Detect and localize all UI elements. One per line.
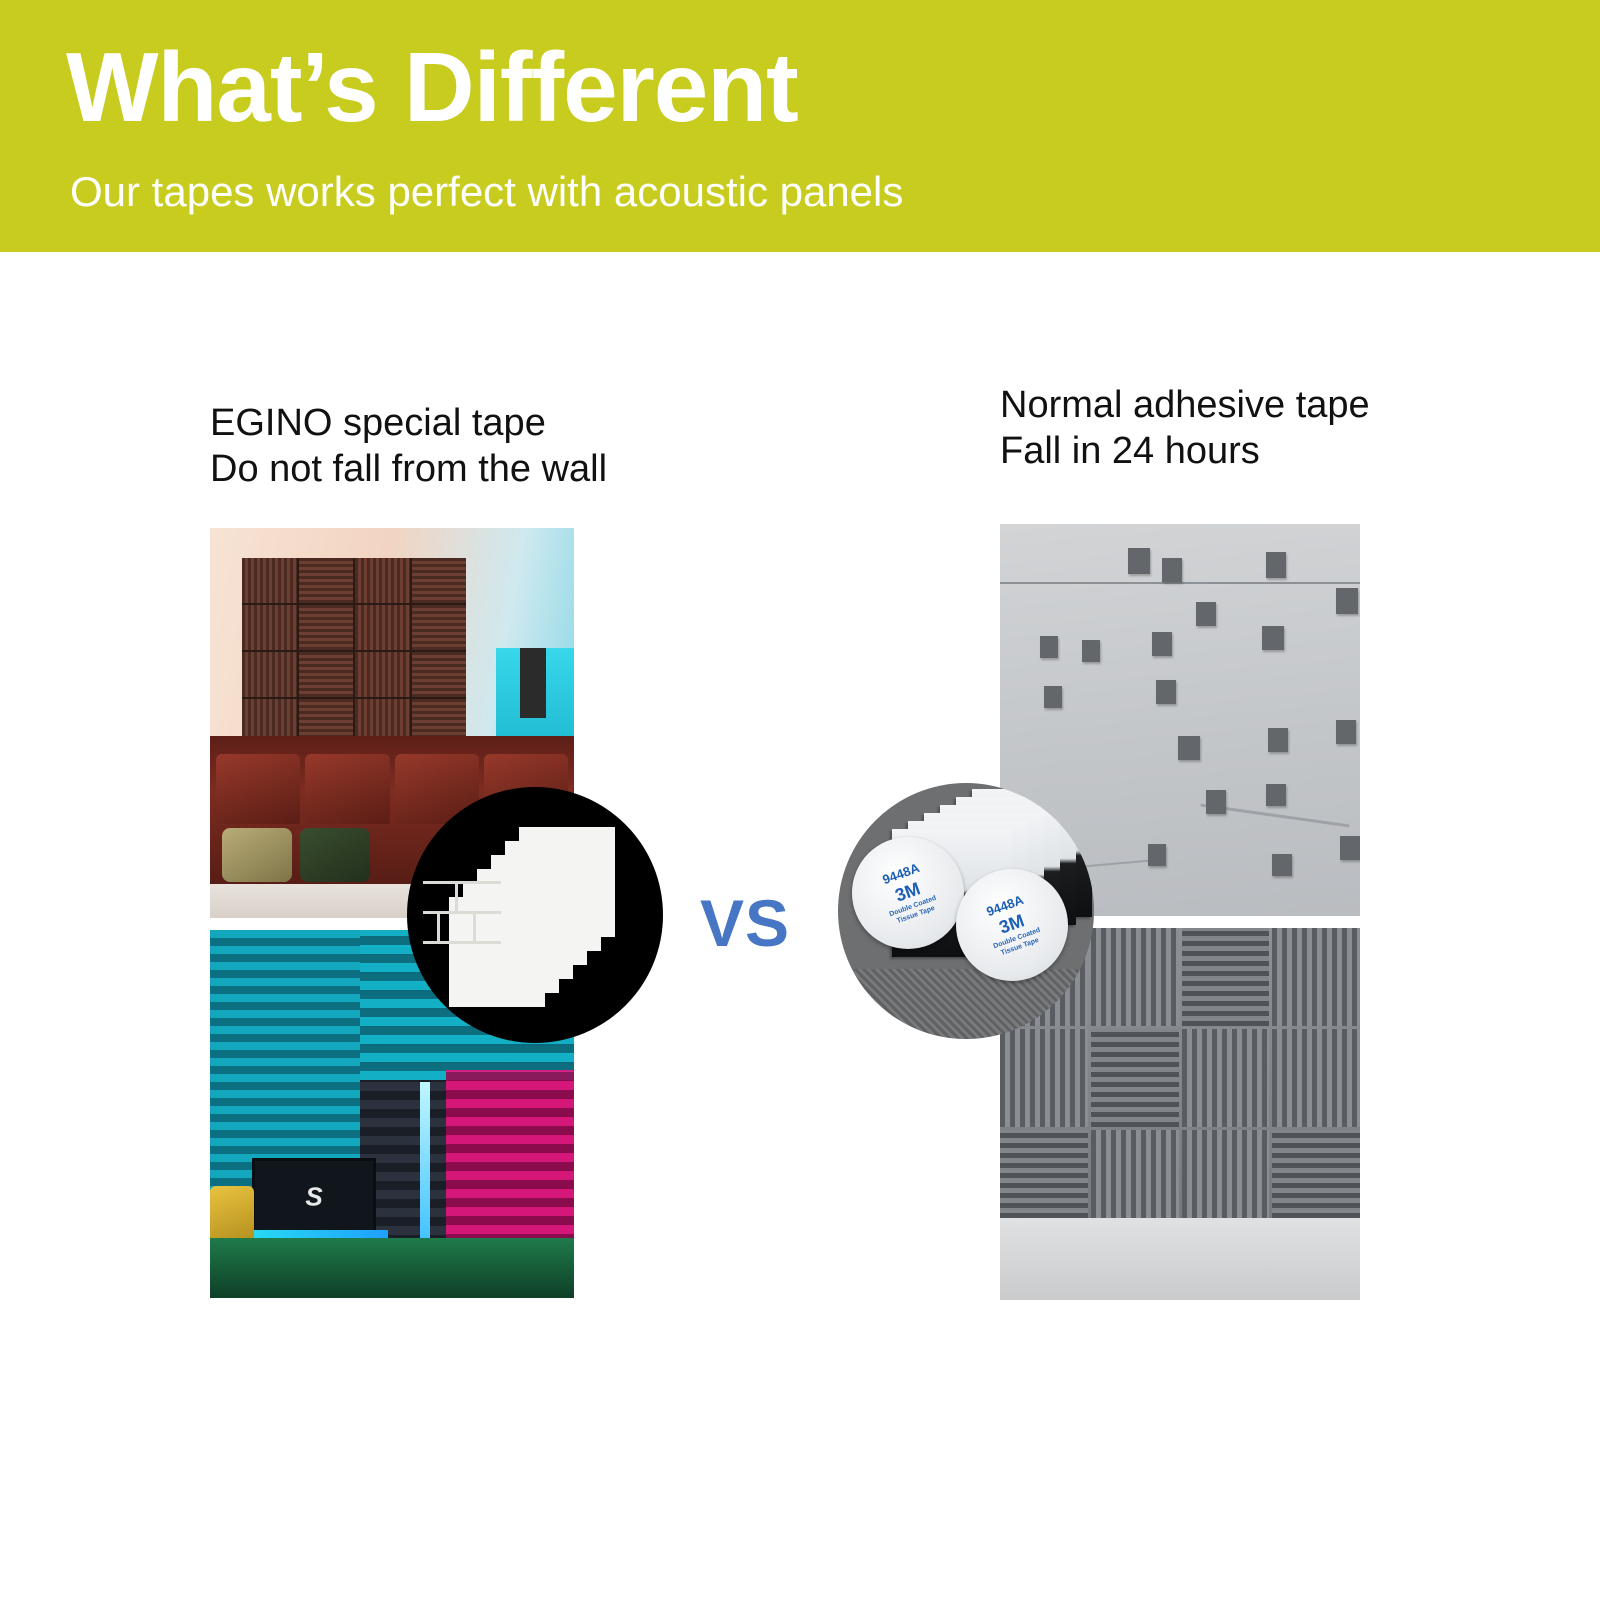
tape-disc-label: 9448A 3M Double Coated Tissue Tape (976, 889, 1048, 961)
tape-disc: 9448A 3M Double Coated Tissue Tape (956, 869, 1068, 981)
right-caption: Normal adhesive tape Fall in 24 hours (1000, 382, 1370, 475)
tape-disc: 9448A 3M Double Coated Tissue Tape (852, 837, 964, 949)
floor-surface (1000, 1218, 1360, 1300)
leftover-tape-square (1336, 720, 1356, 744)
left-callout-circle (407, 787, 663, 1043)
leftover-tape-square (1044, 686, 1062, 708)
left-caption: EGINO special tape Do not fall from the … (210, 400, 607, 493)
right-callout-circle: 9448A 9448A 9448A 9448A 9448A 9448A 9448… (838, 783, 1094, 1039)
leftover-tape-square (1336, 588, 1358, 614)
leftover-tape-square (1340, 836, 1360, 860)
page-title: What’s Different (66, 38, 798, 136)
header-banner: What’s Different Our tapes works perfect… (0, 0, 1600, 252)
desk-surface (210, 1238, 574, 1298)
fabric-background (838, 969, 1094, 1039)
speaker-tower (520, 648, 546, 718)
tape-disc-label: 9448A 3M Double Coated Tissue Tape (872, 857, 944, 929)
couch-pillows (222, 828, 422, 882)
page-subtitle: Our tapes works perfect with acoustic pa… (70, 168, 903, 216)
leftover-tape-square (1152, 632, 1172, 656)
leftover-tape-square (1128, 548, 1150, 574)
leftover-tape-square (1268, 728, 1288, 752)
leftover-tape-square (1040, 636, 1058, 658)
acoustic-panel-grid (242, 558, 466, 744)
leftover-tape-square (1266, 552, 1286, 578)
monitor-logo: S (305, 1182, 322, 1213)
leftover-tape-square (1266, 784, 1286, 806)
leftover-tape-square (1262, 626, 1284, 650)
desk-monitor: S (252, 1158, 376, 1236)
leftover-tape-square (1162, 558, 1182, 582)
pad-surface-lines (415, 867, 511, 977)
leftover-tape-square (1206, 790, 1226, 814)
leftover-tape-square (1196, 602, 1216, 626)
leftover-tape-square (1272, 854, 1292, 876)
leftover-tape-square (1148, 844, 1166, 866)
leftover-tape-square (1178, 736, 1200, 760)
wall-seam-line (1000, 582, 1360, 584)
leftover-tape-square (1156, 680, 1176, 704)
vs-divider: VS (700, 885, 790, 961)
leftover-tape-square (1082, 640, 1100, 662)
